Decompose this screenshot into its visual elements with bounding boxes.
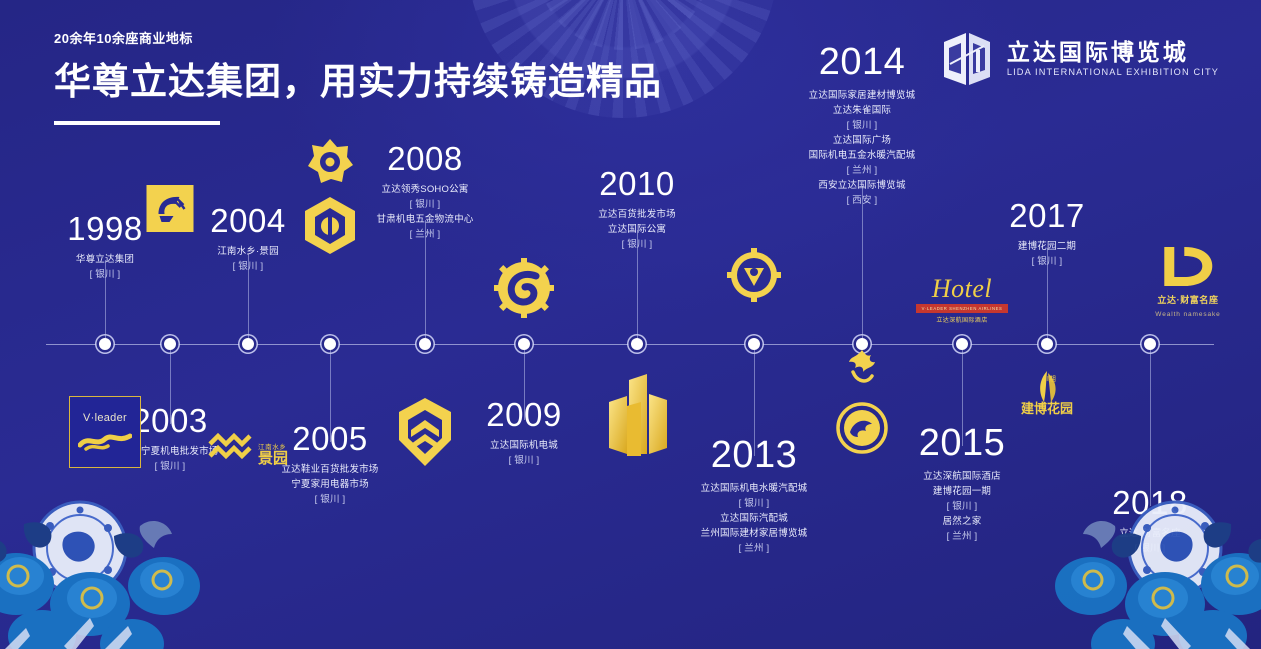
jianbo-garden-logo: 建博花园 II期 (1021, 370, 1073, 417)
star-burst-emblem (306, 137, 354, 190)
west-ningxia-market-emblem (147, 185, 194, 232)
auto-parts-emblem (727, 248, 781, 307)
jianbo-label: 建博花园 (1021, 398, 1073, 417)
shield-chevron-icon (397, 396, 453, 468)
dragon-medallion-emblem (836, 402, 888, 459)
entry-year-2010: 2010 (512, 167, 762, 200)
entry-project: 立达·财富名座 (1025, 526, 1261, 541)
timeline-dot-1998 (99, 338, 111, 350)
entry-city: [ 银川 ] (922, 254, 1172, 269)
vleader-label: V·leader (83, 412, 127, 424)
entry-city: [ 银川 ] (1025, 541, 1261, 556)
hexagon-gear-icon (302, 196, 358, 260)
floral-decoration-left (0, 476, 232, 649)
timeline-dot-2017 (1041, 338, 1053, 350)
jianbo-phase-badge: II期 (1045, 374, 1056, 384)
timeline-dot-2015 (956, 338, 968, 350)
shield-chevron-emblem (397, 396, 453, 473)
timeline-dot-2008 (419, 338, 431, 350)
entry-project: 立达国际家居建材博览城 (737, 88, 987, 103)
entry-year-2014: 2014 (737, 43, 987, 81)
wealth-namesake-logo: 立达·财富名座 Wealth namesake (1155, 244, 1220, 318)
hotel-script-logo: Hotel V·LEADER SHENZHEN AIRLINES 立达深航国际酒… (916, 276, 1008, 324)
gear-shield-icon (727, 248, 781, 302)
timeline-dot-2003 (164, 338, 176, 350)
entry-project: 立达朱雀国际 (737, 103, 987, 118)
dragon-circle-icon (836, 402, 888, 454)
dragon-swirl-icon (78, 427, 132, 453)
timeline-dot-2013 (748, 338, 760, 350)
vleader-logo: V·leader (69, 396, 141, 468)
entry-year-2018: 2018 (1025, 486, 1261, 519)
wealth-cn-label: 立达·财富名座 (1157, 293, 1218, 306)
jiangnan-watertown-logo: 江南水乡 景园 (208, 432, 288, 466)
entry-project: 立达深航国际酒店 (837, 469, 1087, 484)
title-underline (54, 121, 220, 125)
timeline-dot-2010 (631, 338, 643, 350)
phoenix-emblem (841, 348, 883, 395)
ld-monogram-icon (1160, 244, 1216, 288)
entry-project: 立达国际公寓 (512, 222, 762, 237)
wealth-en-label: Wealth namesake (1155, 311, 1220, 318)
hotel-script-label: Hotel (932, 276, 992, 302)
entry-project: 立达国际广场 (737, 133, 987, 148)
timeline-stem-2014 (862, 186, 863, 338)
starburst-icon (306, 137, 354, 185)
hex-market-emblem (302, 196, 358, 265)
water-wave-icon (208, 432, 254, 466)
swirl-gear-emblem (494, 258, 554, 323)
timeline-dot-2018 (1144, 338, 1156, 350)
header-eyebrow: 20余年10余座商业地标 (54, 28, 662, 47)
entry-project: 国际机电五金水暖汽配城 (737, 148, 987, 163)
poster-canvas: 20余年10余座商业地标 华尊立达集团，用实力持续铸造精品 立达国际博览城 LI… (0, 0, 1261, 649)
entry-project: 建博花园二期 (922, 239, 1172, 254)
timeline-dot-2009 (518, 338, 530, 350)
entry-project: 西安立达国际博览城 (737, 178, 987, 193)
timeline-entry-2014[interactable]: 2014立达国际家居建材博览城立达朱雀国际[ 银川 ]立达国际广场国际机电五金水… (737, 43, 987, 208)
brand-name-cn: 立达国际博览城 (1007, 41, 1219, 64)
entry-project: 立达百货批发市场 (512, 207, 762, 222)
timeline-entry-2010[interactable]: 2010立达百货批发市场立达国际公寓[ 银川 ] (512, 167, 762, 252)
timeline-dot-2004 (242, 338, 254, 350)
building-cluster-icon (597, 372, 677, 458)
fan-comb-icon (153, 192, 187, 226)
entry-city: [ 银川 ] (512, 237, 762, 252)
entry-city: [ 银川 ] (205, 492, 455, 507)
header: 20余年10余座商业地标 华尊立达集团，用实力持续铸造精品 (54, 28, 662, 125)
phoenix-icon (841, 348, 883, 390)
hotel-en-strip: V·LEADER SHENZHEN AIRLINES (922, 306, 1003, 311)
swirl-gear-icon (494, 258, 554, 318)
gold-towers-emblem (597, 372, 677, 463)
page-title: 华尊立达集团，用实力持续铸造精品 (54, 61, 662, 102)
brand-name-en: LIDA INTERNATIONAL EXHIBITION CITY (1007, 68, 1219, 77)
entry-project: 宁夏家用电器市场 (205, 477, 455, 492)
entry-city: [ 银川 ] (737, 118, 987, 133)
entry-city: [ 兰州 ] (737, 163, 987, 178)
hotel-cn-label: 立达深航国际酒店 (936, 315, 987, 324)
timeline-stem-2018 (1150, 350, 1151, 506)
timeline-entry-2017[interactable]: 2017建博花园二期[ 银川 ] (922, 199, 1172, 269)
timeline-dot-2005 (324, 338, 336, 350)
timeline-entry-2018[interactable]: 2018立达·财富名座[ 银川 ] (1025, 486, 1261, 556)
entry-year-2017: 2017 (922, 199, 1172, 232)
jiangnan-main-label: 景园 (258, 451, 288, 466)
timeline-axis (46, 344, 1214, 345)
